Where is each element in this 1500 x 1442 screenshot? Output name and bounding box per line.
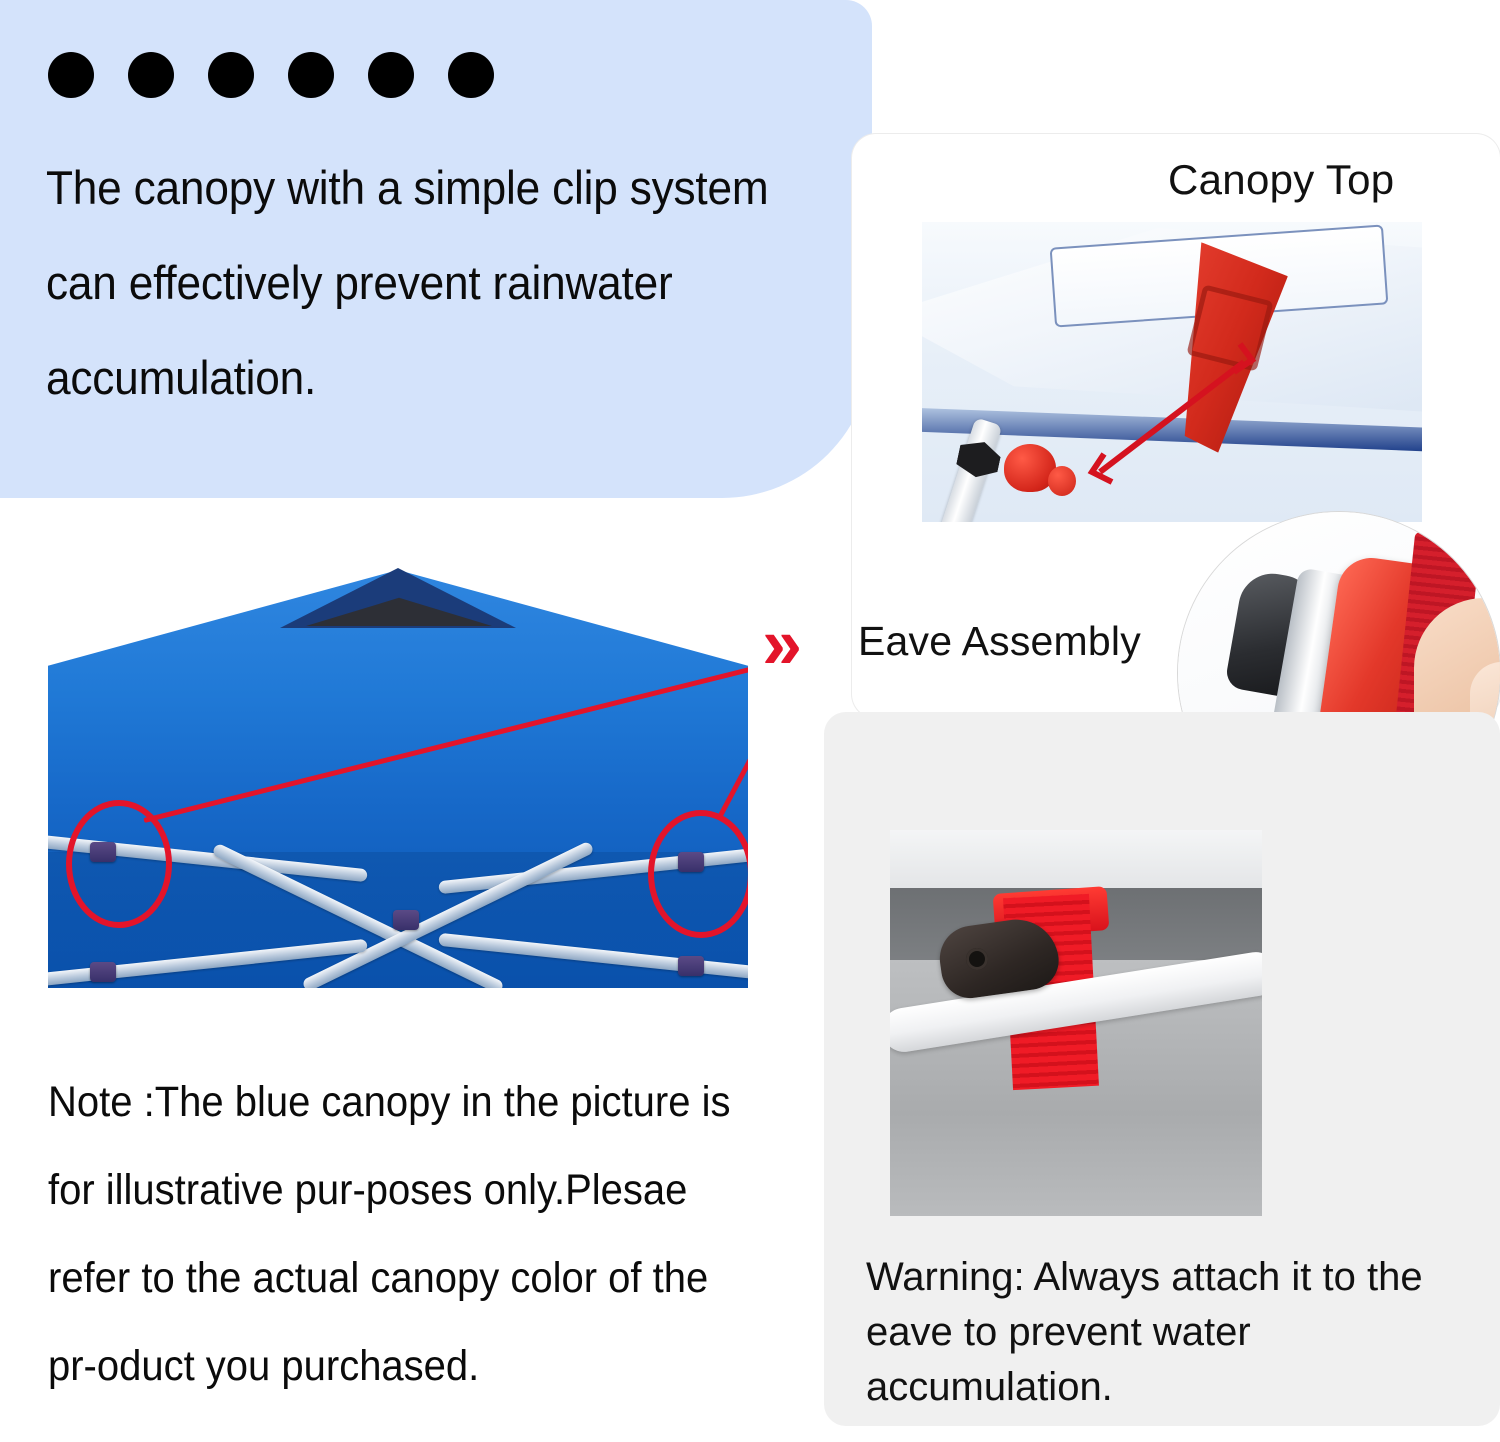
canopy-top-photo <box>922 222 1422 522</box>
canopy-top-label: Canopy Top <box>1168 156 1394 204</box>
highlight-ellipse-right <box>648 810 748 938</box>
eave-attachment-photo <box>890 830 1262 1216</box>
buckle-screw-icon <box>966 948 988 970</box>
canopy-clip <box>90 962 116 982</box>
canopy-photo <box>48 552 748 988</box>
canopy-clip <box>393 910 419 930</box>
dot-bullet-icon <box>288 52 334 98</box>
photo-background <box>890 830 1262 890</box>
dot-bullet-icon <box>128 52 174 98</box>
infographic-canvas: The canopy with a simple clip system can… <box>0 0 1500 1442</box>
headline-text: The canopy with a simple clip system can… <box>46 140 798 425</box>
canopy-clip <box>678 956 704 976</box>
dot-bullet-icon <box>368 52 414 98</box>
warning-text: Warning: Always attach it to the eave to… <box>866 1250 1466 1415</box>
note-text: Note :The blue canopy in the picture is … <box>48 1058 755 1410</box>
dot-bullet-icon <box>48 52 94 98</box>
eave-assembly-label: Eave Assembly <box>858 618 1141 665</box>
dot-bullet-icon <box>208 52 254 98</box>
dot-bullet-icon <box>448 52 494 98</box>
dots-row <box>48 52 494 98</box>
chevron-right-icon: » <box>762 608 792 680</box>
